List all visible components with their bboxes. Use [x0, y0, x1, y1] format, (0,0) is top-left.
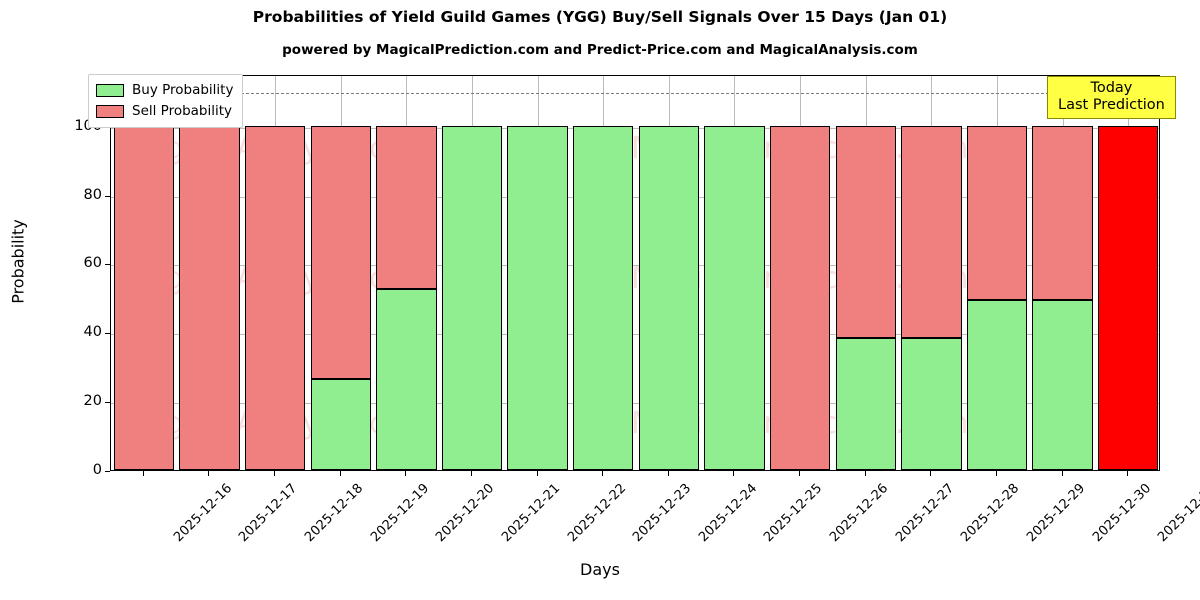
- bar-segment-sell[interactable]: [836, 126, 896, 338]
- chart-legend: Buy ProbabilitySell Probability: [88, 74, 243, 128]
- x-tick-label-2025-12-29: 2025-12-29: [1024, 481, 1088, 545]
- x-tick-label-2025-12-16: 2025-12-16: [171, 481, 235, 545]
- x-tick-mark-2025-12-25: [733, 471, 734, 476]
- bar-2025-12-29[interactable]: [967, 75, 1027, 470]
- x-tick-mark-2025-12-31: [1127, 471, 1128, 476]
- y-tick-label-20: 20: [60, 393, 102, 409]
- legend-item-buy[interactable]: Buy Probability: [96, 80, 233, 101]
- bar-2025-12-23[interactable]: [573, 75, 633, 470]
- x-tick-label-2025-12-27: 2025-12-27: [893, 481, 957, 545]
- bar-segment-buy[interactable]: [836, 338, 896, 470]
- x-tick-mark-2025-12-28: [930, 471, 931, 476]
- bar-2025-12-27[interactable]: [836, 75, 896, 470]
- today-annotation-line1: Today: [1058, 80, 1165, 97]
- x-tick-label-2025-12-28: 2025-12-28: [958, 481, 1022, 545]
- bar-2025-12-19[interactable]: [311, 75, 371, 470]
- bar-segment-buy[interactable]: [704, 126, 764, 470]
- chart-figure: Probabilities of Yield Guild Games (YGG)…: [0, 0, 1200, 600]
- x-tick-label-2025-12-19: 2025-12-19: [368, 481, 432, 545]
- bar-segment-sell[interactable]: [901, 126, 961, 338]
- x-tick-mark-2025-12-30: [1062, 471, 1063, 476]
- legend-label: Buy Probability: [132, 81, 233, 100]
- x-tick-label-2025-12-25: 2025-12-25: [762, 481, 826, 545]
- bar-segment-buy[interactable]: [901, 338, 961, 470]
- bar-segment-buy[interactable]: [573, 126, 633, 470]
- y-tick-label-60: 60: [60, 255, 102, 271]
- x-tick-mark-2025-12-16: [143, 471, 144, 476]
- x-tick-mark-2025-12-23: [602, 471, 603, 476]
- bar-2025-12-25[interactable]: [704, 75, 764, 470]
- y-tick-label-80: 80: [60, 187, 102, 203]
- chart-subtitle: powered by MagicalPrediction.com and Pre…: [0, 42, 1200, 58]
- today-annotation-line2: Last Prediction: [1058, 97, 1165, 114]
- x-tick-label-2025-12-30: 2025-12-30: [1090, 481, 1154, 545]
- bar-2025-12-16[interactable]: [114, 75, 174, 470]
- x-tick-mark-2025-12-17: [208, 471, 209, 476]
- x-tick-label-2025-12-22: 2025-12-22: [565, 481, 629, 545]
- x-tick-mark-2025-12-22: [537, 471, 538, 476]
- x-tick-label-2025-12-17: 2025-12-17: [237, 481, 301, 545]
- bar-segment-sell[interactable]: [1032, 126, 1092, 300]
- bar-segment-buy[interactable]: [507, 126, 567, 470]
- y-tick-label-40: 40: [60, 324, 102, 340]
- bar-2025-12-21[interactable]: [442, 75, 502, 470]
- x-tick-mark-2025-12-27: [865, 471, 866, 476]
- x-tick-label-2025-12-21: 2025-12-21: [499, 481, 563, 545]
- y-tick-label-0: 0: [60, 462, 102, 478]
- bar-segment-sell[interactable]: [179, 126, 239, 470]
- bar-segment-sell[interactable]: [376, 126, 436, 289]
- bar-2025-12-26[interactable]: [770, 75, 830, 470]
- bar-segment-today[interactable]: [1098, 126, 1158, 470]
- x-tick-label-2025-12-31: 2025-12-31: [1155, 481, 1200, 545]
- bar-segment-sell[interactable]: [311, 126, 371, 380]
- bar-2025-12-31[interactable]: [1098, 75, 1158, 470]
- x-tick-label-2025-12-20: 2025-12-20: [433, 481, 497, 545]
- y-tick-mark-0: [105, 471, 110, 472]
- x-tick-mark-2025-12-29: [996, 471, 997, 476]
- bar-2025-12-30[interactable]: [1032, 75, 1092, 470]
- plot-area: MagicalAnalysis.comMagicalPrediction.com…: [110, 75, 1160, 471]
- bar-segment-buy[interactable]: [1032, 300, 1092, 470]
- bar-2025-12-22[interactable]: [507, 75, 567, 470]
- y-axis-label: Probability: [9, 182, 28, 342]
- chart-title: Probabilities of Yield Guild Games (YGG)…: [0, 8, 1200, 26]
- legend-item-sell[interactable]: Sell Probability: [96, 101, 233, 122]
- bar-segment-buy[interactable]: [442, 126, 502, 470]
- x-tick-label-2025-12-23: 2025-12-23: [630, 481, 694, 545]
- bar-segment-buy[interactable]: [311, 379, 371, 470]
- x-tick-mark-2025-12-18: [274, 471, 275, 476]
- bar-segment-buy[interactable]: [967, 300, 1027, 470]
- x-tick-label-2025-12-26: 2025-12-26: [827, 481, 891, 545]
- x-tick-mark-2025-12-24: [668, 471, 669, 476]
- x-axis-label: Days: [0, 560, 1200, 579]
- legend-label: Sell Probability: [132, 102, 232, 121]
- bar-segment-sell[interactable]: [114, 126, 174, 470]
- x-tick-mark-2025-12-20: [405, 471, 406, 476]
- bar-2025-12-17[interactable]: [179, 75, 239, 470]
- legend-swatch-icon: [96, 105, 124, 118]
- bar-segment-sell[interactable]: [967, 126, 1027, 300]
- x-tick-mark-2025-12-21: [471, 471, 472, 476]
- bar-2025-12-18[interactable]: [245, 75, 305, 470]
- bar-segment-buy[interactable]: [639, 126, 699, 470]
- x-tick-mark-2025-12-19: [340, 471, 341, 476]
- x-tick-mark-2025-12-26: [799, 471, 800, 476]
- today-annotation: Today Last Prediction: [1047, 76, 1176, 119]
- bar-segment-sell[interactable]: [245, 126, 305, 470]
- legend-swatch-icon: [96, 84, 124, 97]
- bar-2025-12-24[interactable]: [639, 75, 699, 470]
- x-tick-label-2025-12-18: 2025-12-18: [302, 481, 366, 545]
- bar-segment-sell[interactable]: [770, 126, 830, 470]
- bar-2025-12-28[interactable]: [901, 75, 961, 470]
- bar-segment-buy[interactable]: [376, 289, 436, 470]
- bar-2025-12-20[interactable]: [376, 75, 436, 470]
- x-tick-label-2025-12-24: 2025-12-24: [696, 481, 760, 545]
